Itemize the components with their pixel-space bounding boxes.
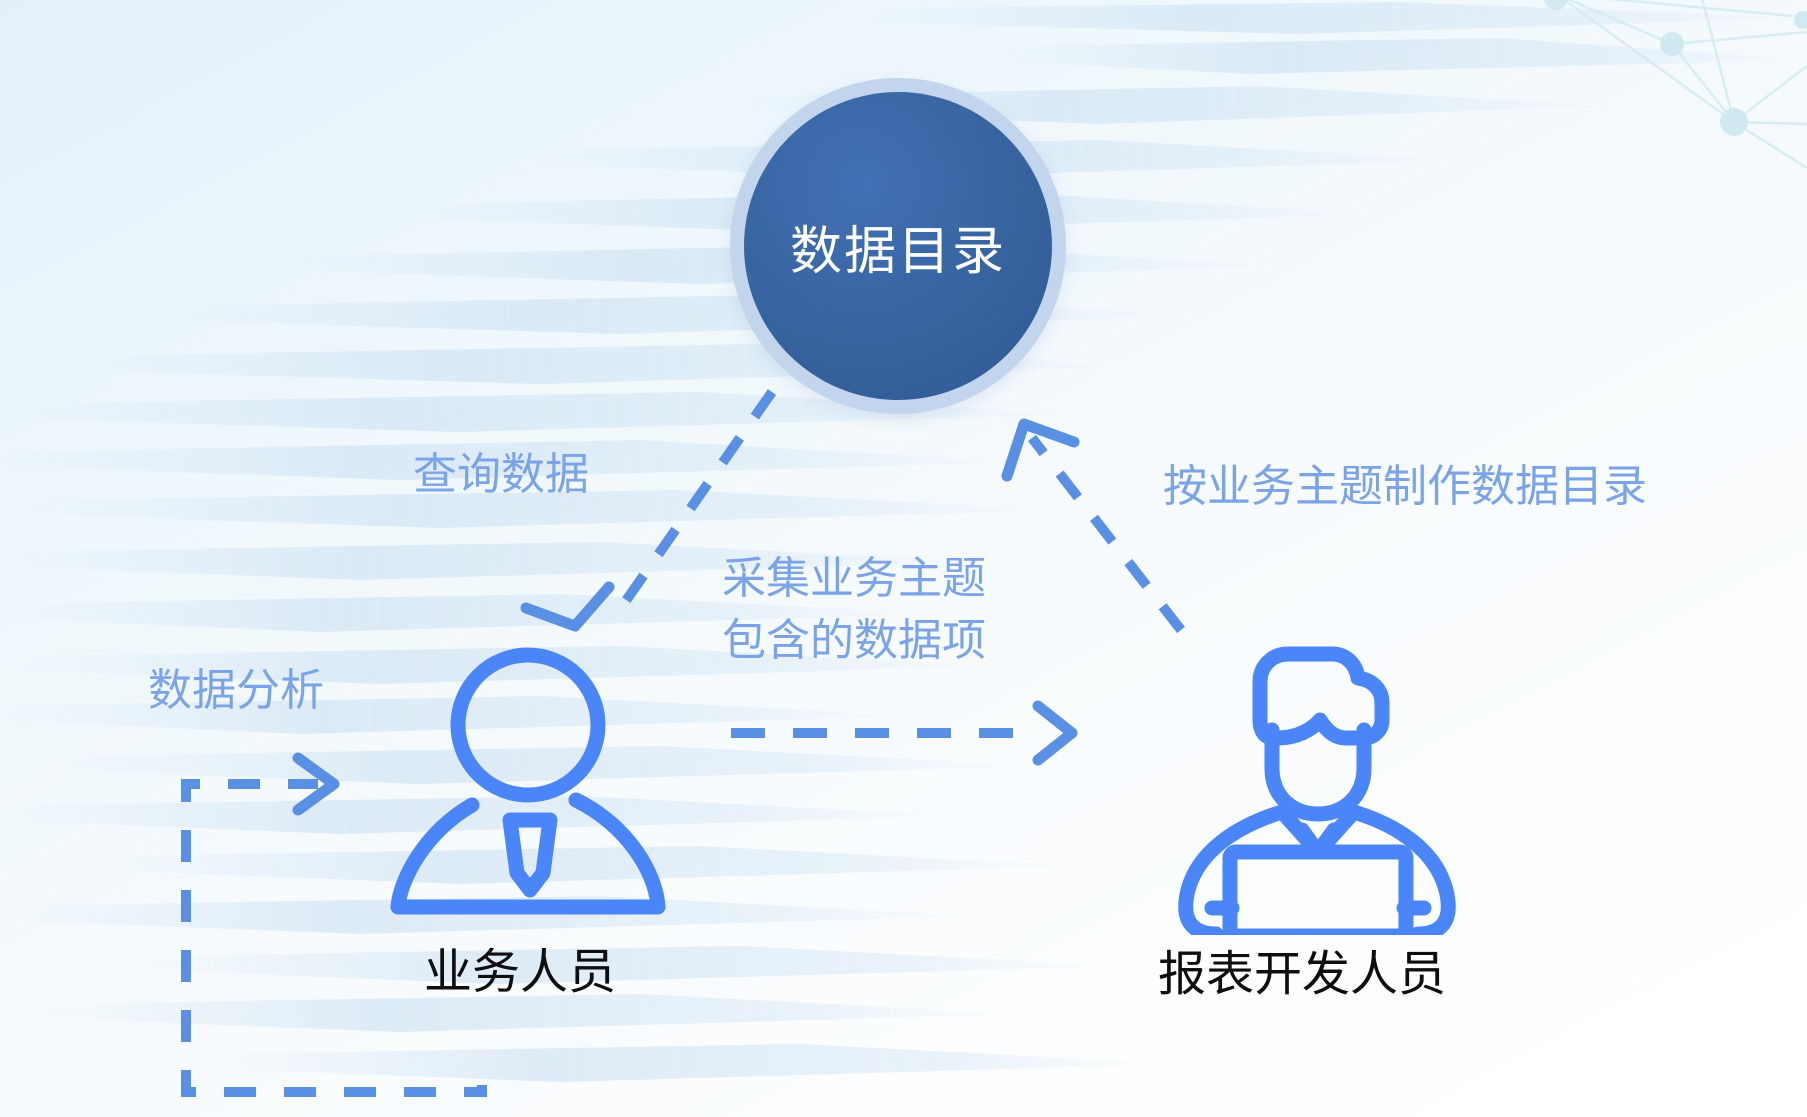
actor-business-person-label: 业务人员 xyxy=(424,932,616,1002)
actor-report-developer-label: 报表开发人员 xyxy=(1158,934,1446,1004)
edge-label-make-catalog: 按业务主题制作数据目录 xyxy=(1163,456,1647,518)
hub-node-inner: 数据目录 xyxy=(744,92,1052,400)
arrowhead-data-analysis xyxy=(298,758,334,810)
network-nodes xyxy=(1544,0,1807,136)
edge-label-data-analysis: 数据分析 xyxy=(148,660,324,722)
diagram-canvas: 数据目录 查询数据 按业务主题制作数据目录 采集业务主题 包含的数据项 数据分析… xyxy=(0,0,1807,1117)
edge-label-collect-items-line1: 采集业务主题 xyxy=(722,548,986,610)
hub-node-label: 数据目录 xyxy=(790,209,1006,284)
actor-business-person[interactable] xyxy=(380,630,680,930)
arrowhead-collect-items xyxy=(1038,706,1072,760)
arrowhead-query-data xyxy=(526,587,609,626)
hub-node-data-catalog[interactable]: 数据目录 xyxy=(730,78,1066,414)
edge-label-query-data: 查询数据 xyxy=(413,444,589,506)
actor-report-developer[interactable] xyxy=(1150,590,1480,935)
network-pattern xyxy=(1556,0,1807,168)
developer-laptop-icon xyxy=(1150,590,1480,935)
edge-label-collect-items-line2: 包含的数据项 xyxy=(722,610,986,672)
business-person-icon xyxy=(380,630,680,930)
arrowhead-make-catalog xyxy=(1007,424,1074,476)
edge-label-collect-items: 采集业务主题 包含的数据项 xyxy=(722,548,986,673)
